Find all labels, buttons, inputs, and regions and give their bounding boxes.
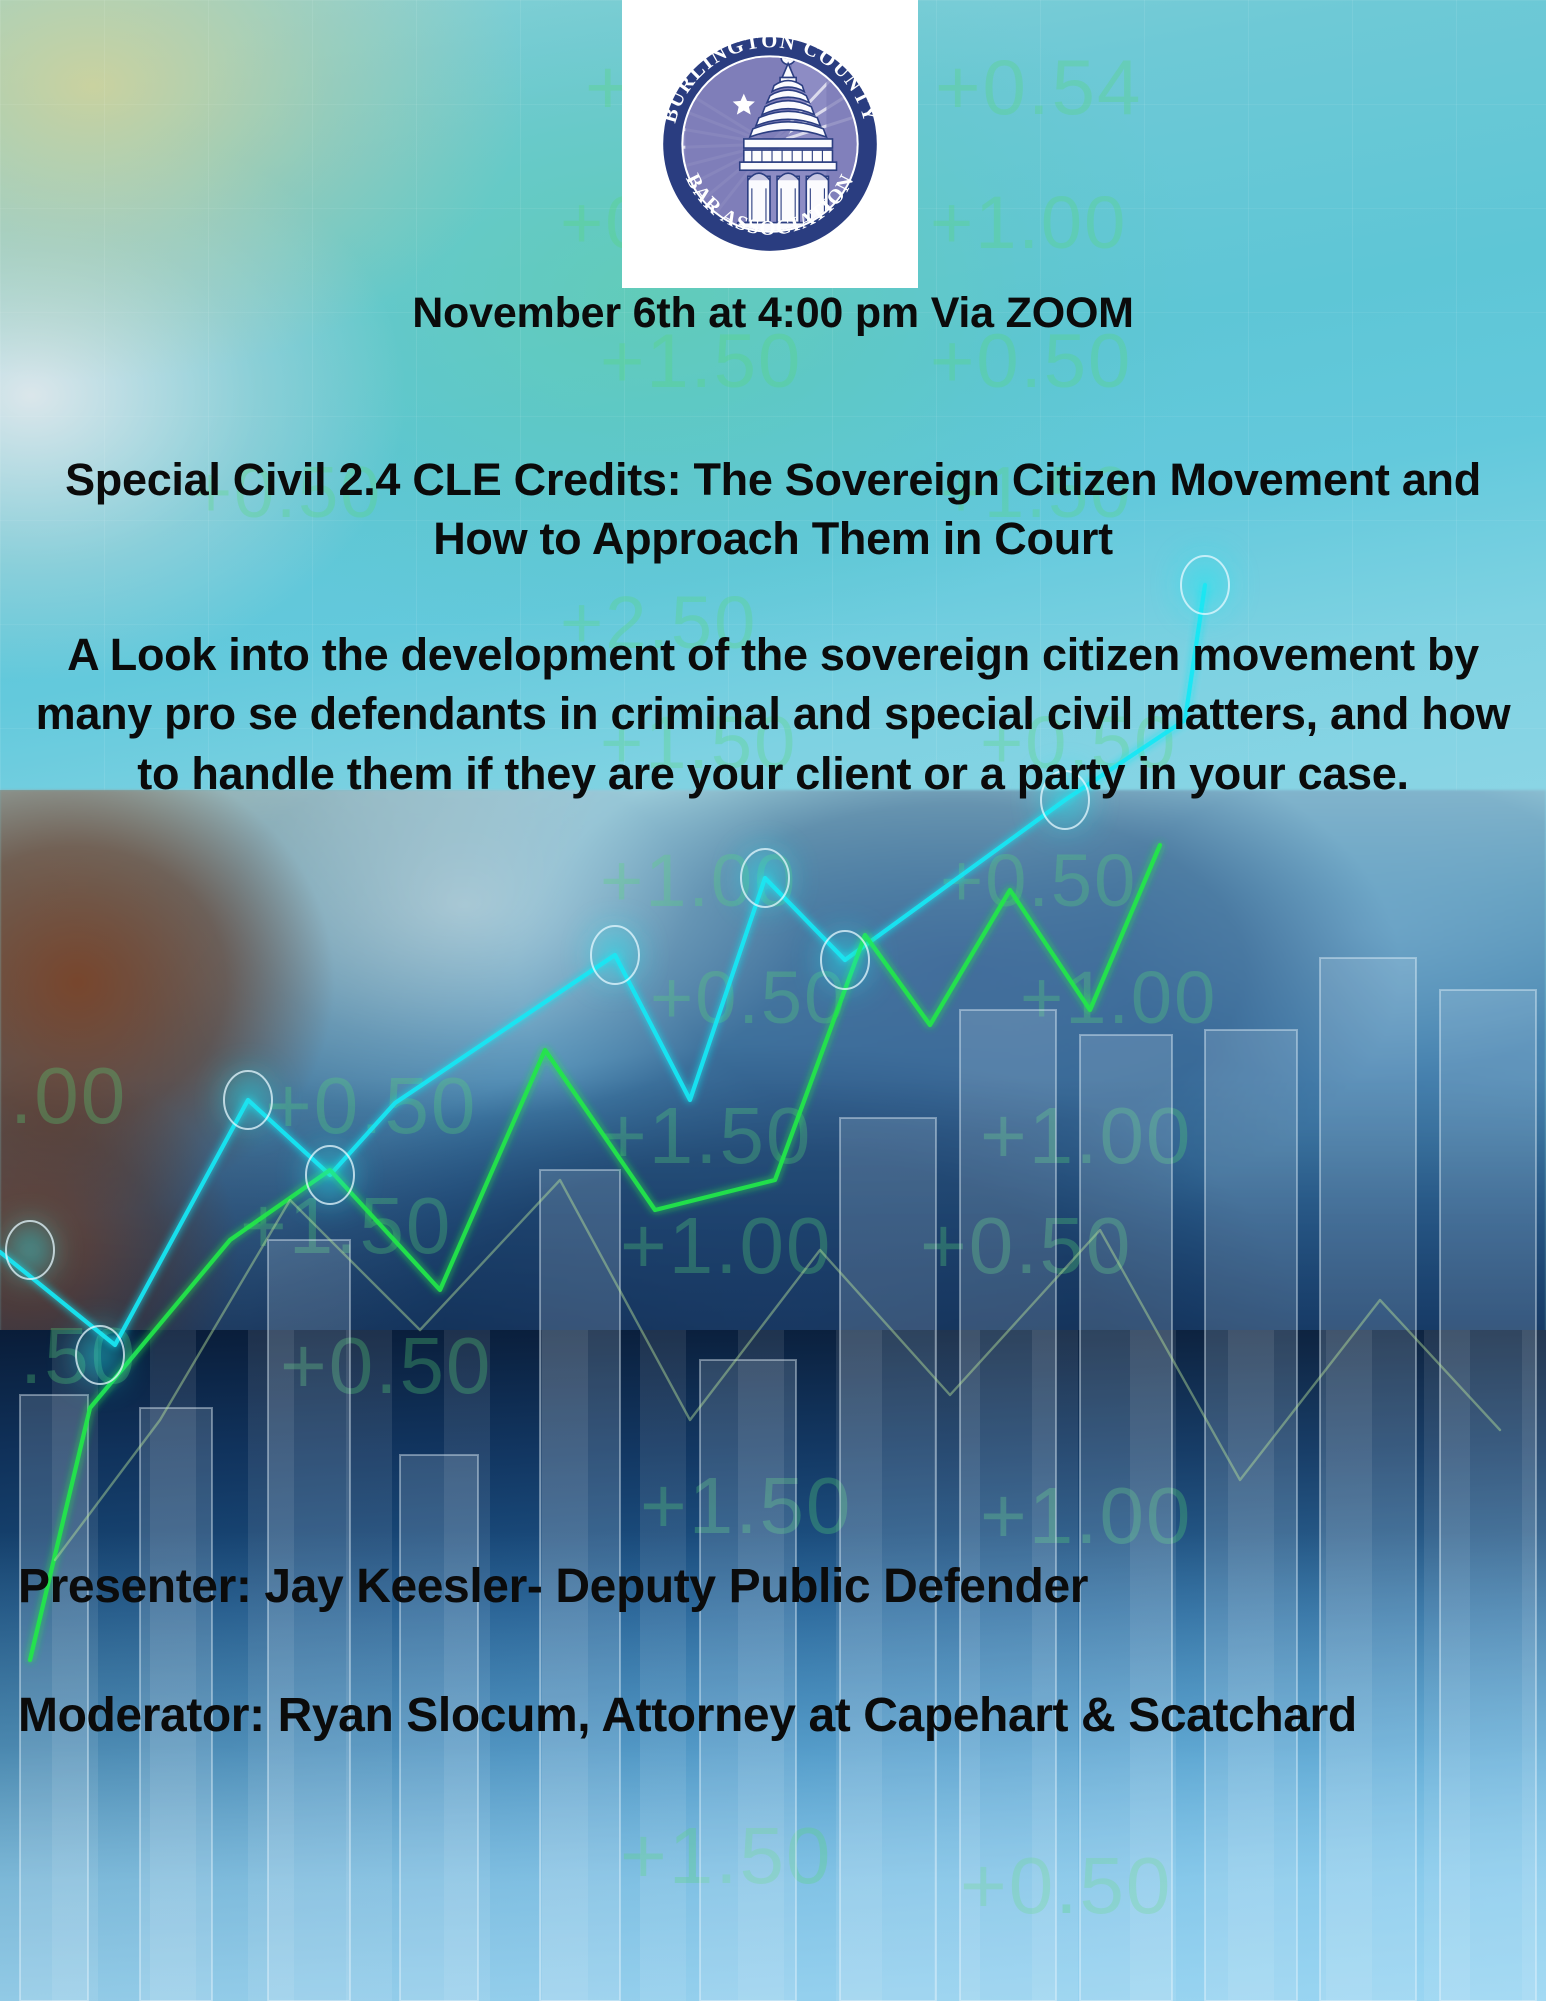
burlington-county-bar-association-seal-icon: BURLINGTON COUNTY BAR ASSOCIATION [639, 11, 901, 273]
event-datetime: November 6th at 4:00 pm Via ZOOM [0, 288, 1546, 339]
organization-logo-card: BURLINGTON COUNTY BAR ASSOCIATION [622, 0, 918, 288]
moderator-credit: Moderator: Ryan Slocum, Attorney at Cape… [18, 1685, 1486, 1746]
presenter-credit: Presenter: Jay Keesler- Deputy Public De… [18, 1556, 1486, 1617]
event-title: Special Civil 2.4 CLE Credits: The Sover… [0, 450, 1546, 569]
flyer-poster: +1.00+0.54+0.50+1.00+1.50+0.50+0.50+1.50… [0, 0, 1546, 2001]
event-description: A Look into the development of the sover… [0, 625, 1546, 803]
